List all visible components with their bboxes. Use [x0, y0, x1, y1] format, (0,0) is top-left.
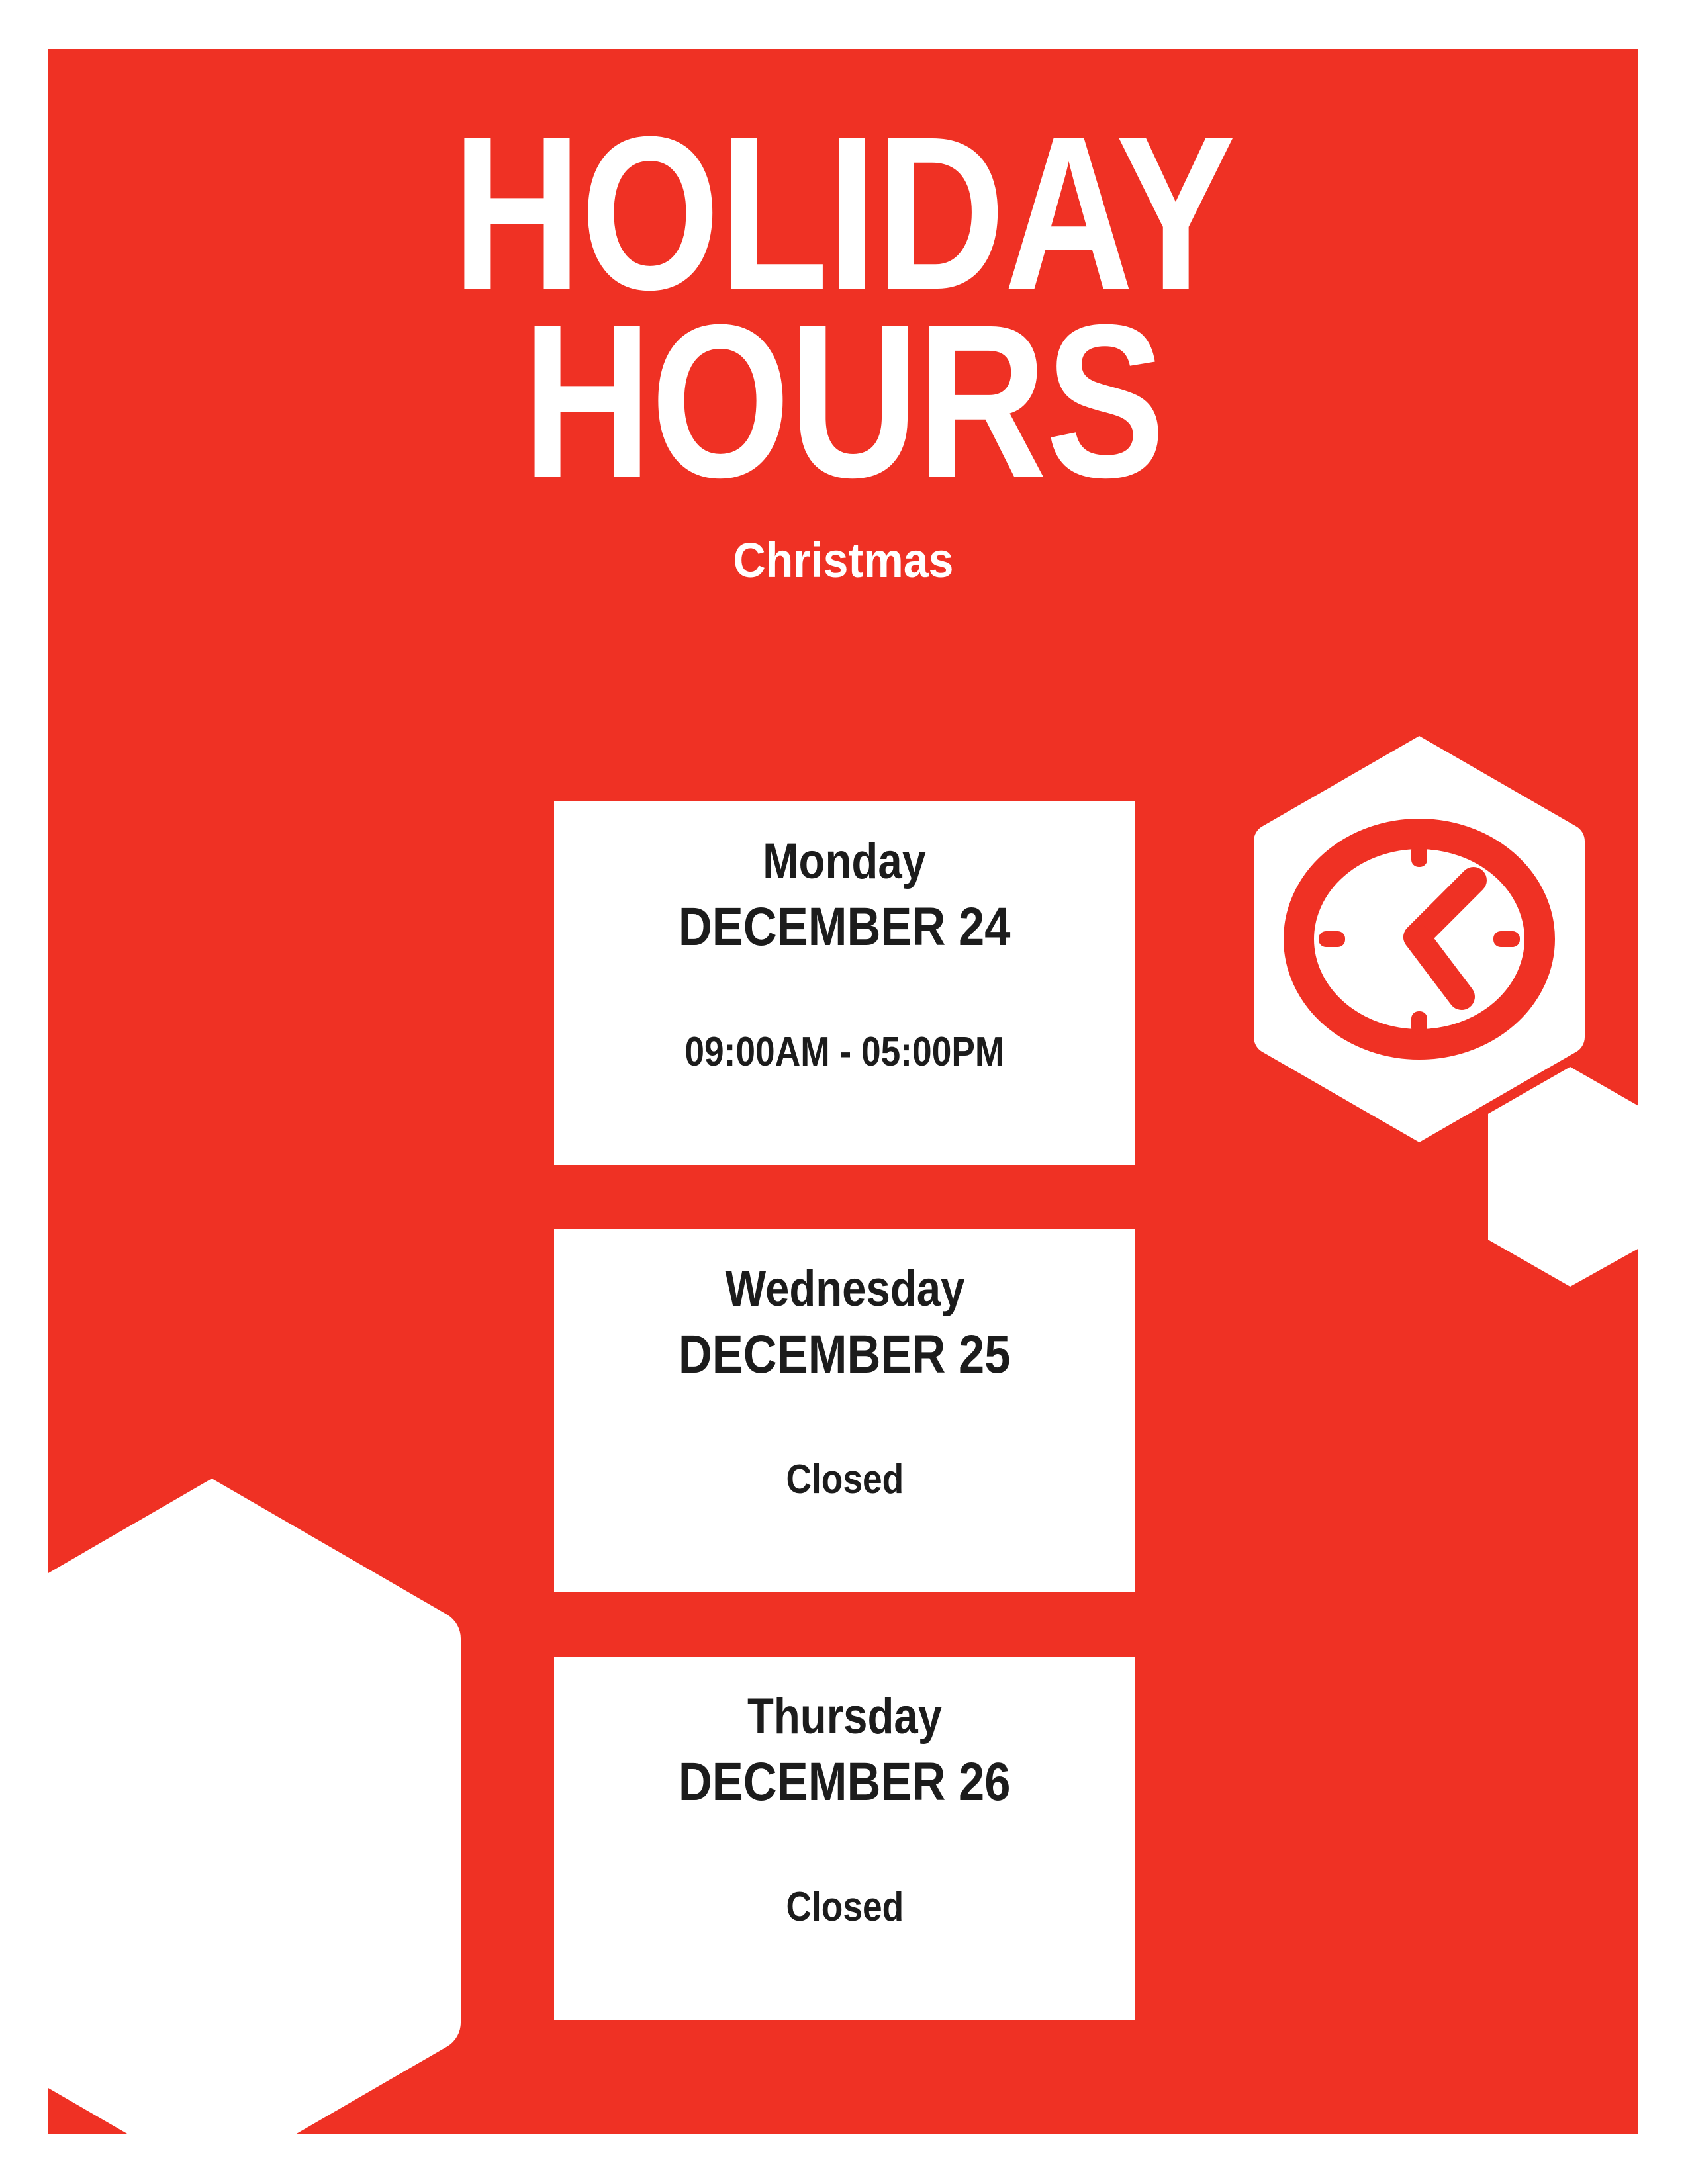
schedule-day-label: Thursday	[747, 1690, 942, 1744]
page-title-line-2: HOURS	[191, 307, 1495, 495]
schedule-day-label: Monday	[763, 835, 927, 889]
holiday-hours-poster: HOLIDAY HOURS Christmas Monday DECEMBER	[0, 0, 1688, 2184]
schedule-card-list: Monday DECEMBER 24 09:00AM - 05:00PM Wed…	[554, 801, 1135, 2020]
schedule-date-label: DECEMBER 24	[679, 898, 1011, 957]
schedule-card: Thursday DECEMBER 26 Closed	[554, 1657, 1135, 2020]
schedule-hours-label: Closed	[786, 1457, 904, 1502]
hexagon-decor-icon	[0, 1473, 463, 2184]
page-subtitle: Christmas	[112, 536, 1575, 585]
schedule-card: Wednesday DECEMBER 25 Closed	[554, 1229, 1135, 1592]
poster-title-block: HOLIDAY HOURS Christmas	[48, 119, 1638, 585]
schedule-date-label: DECEMBER 25	[679, 1326, 1011, 1385]
schedule-date-label: DECEMBER 26	[679, 1753, 1011, 1812]
schedule-day-label: Wednesday	[725, 1262, 964, 1316]
schedule-card: Monday DECEMBER 24 09:00AM - 05:00PM	[554, 801, 1135, 1165]
schedule-hours-label: 09:00AM - 05:00PM	[684, 1030, 1004, 1075]
hexagon-accent-icon	[1488, 1064, 1687, 1289]
schedule-hours-label: Closed	[786, 1885, 904, 1930]
